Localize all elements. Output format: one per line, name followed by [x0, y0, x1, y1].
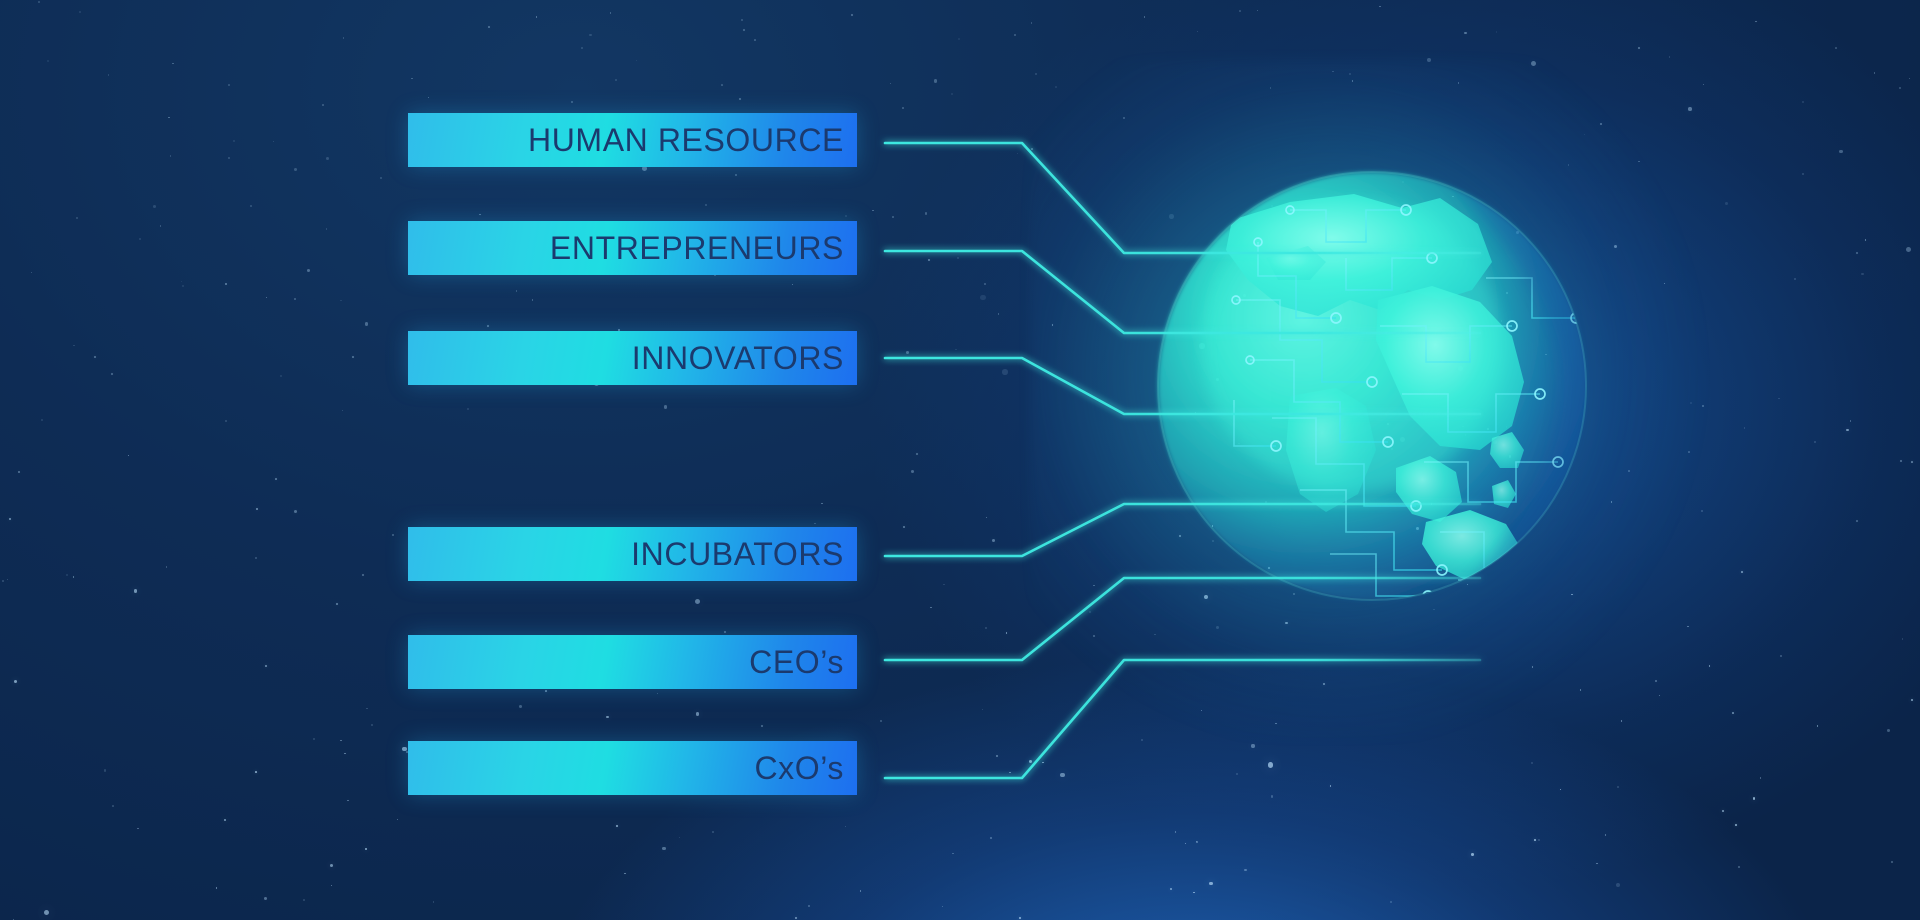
label-bar-ceos[interactable]: CEO’s — [408, 635, 857, 689]
connector-lines — [0, 0, 1920, 920]
label-text: CxO’s — [754, 752, 844, 784]
label-bar-incubators[interactable]: INCUBATORS — [408, 527, 857, 581]
connector-human-resource — [885, 143, 1480, 253]
connector-ceos — [885, 578, 1480, 660]
connector-innovators — [885, 358, 1480, 414]
connector-incubators — [885, 504, 1480, 556]
label-text: HUMAN RESOURCE — [528, 124, 844, 156]
label-bar-cxos[interactable]: CxO’s — [408, 741, 857, 795]
label-bar-entrepreneurs[interactable]: ENTREPRENEURS — [408, 221, 857, 275]
connector-cxos — [885, 660, 1480, 778]
connector-entrepreneurs — [885, 251, 1480, 333]
label-bar-human-resource[interactable]: HUMAN RESOURCE — [408, 113, 857, 167]
label-text: ENTREPRENEURS — [550, 232, 844, 264]
label-text: CEO’s — [749, 646, 844, 678]
label-bar-innovators[interactable]: INNOVATORS — [408, 331, 857, 385]
label-text: INCUBATORS — [631, 538, 844, 570]
slide-canvas: HUMAN RESOURCE ENTREPRENEURS INNOVATORS … — [0, 0, 1920, 920]
label-text: INNOVATORS — [632, 342, 844, 374]
